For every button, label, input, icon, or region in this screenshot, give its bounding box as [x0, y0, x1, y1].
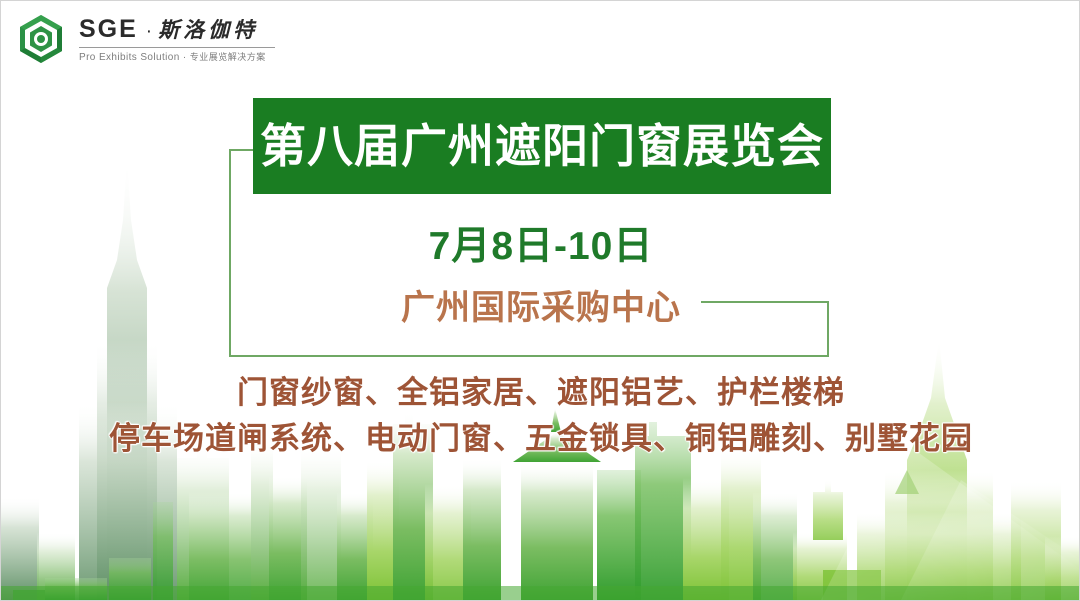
skyline-ground-band: [1, 586, 1080, 600]
event-venue: 广州国际采购中心: [1, 280, 1080, 329]
hexagon-flower-logo-icon: [15, 13, 67, 65]
brand-text-block: SGE · 斯洛伽特 Pro Exhibits Solution · 专业展览解…: [79, 14, 275, 64]
brand-tagline: Pro Exhibits Solution · 专业展览解决方案: [79, 50, 275, 63]
tagline-separator: ·: [183, 52, 187, 63]
brand-separator-dot: ·: [146, 21, 152, 43]
event-date: 7月8日-10日: [1, 215, 1080, 271]
page-title: 第八届广州遮阳门窗展览会: [260, 123, 824, 169]
brand-chinese-name: 斯洛伽特: [158, 14, 258, 44]
skyline-left-blocks: [1, 446, 251, 600]
skyline-light-ray: [821, 440, 1080, 600]
skyline-right-blocks: [793, 480, 1080, 600]
brand-latin-name: SGE: [79, 15, 138, 44]
exhibition-poster: 第八届广州遮阳门窗展览会 7月8日-10日 广州国际采购中心 门窗纱窗、全铝家居…: [0, 0, 1080, 601]
brand-name-line: SGE · 斯洛伽特: [79, 14, 275, 44]
frame-line-bottom: [229, 355, 829, 357]
title-banner: 第八届广州遮阳门窗展览会: [253, 98, 831, 194]
tagline-english: Pro Exhibits Solution: [79, 52, 180, 63]
skyline-left-center: [13, 502, 173, 600]
brand-divider-rule: [79, 47, 275, 48]
skyline-tree-accent: [895, 470, 919, 494]
category-line-1: 门窗纱窗、全铝家居、遮阳铝艺、护栏楼梯: [1, 373, 1080, 413]
category-line-2: 停车场道闸系统、电动门窗、五金锁具、铜铝雕刻、别墅花园: [1, 419, 1080, 459]
city-skyline-illustration: [1, 140, 1080, 600]
exhibit-categories: 门窗纱窗、全铝家居、遮阳铝艺、护栏楼梯 停车场道闸系统、电动门窗、五金锁具、铜铝…: [1, 373, 1080, 458]
tagline-chinese: 专业展览解决方案: [190, 52, 266, 62]
page-header: SGE · 斯洛伽特 Pro Exhibits Solution · 专业展览解…: [1, 1, 1080, 79]
brand-logo[interactable]: SGE · 斯洛伽特 Pro Exhibits Solution · 专业展览解…: [15, 13, 275, 65]
